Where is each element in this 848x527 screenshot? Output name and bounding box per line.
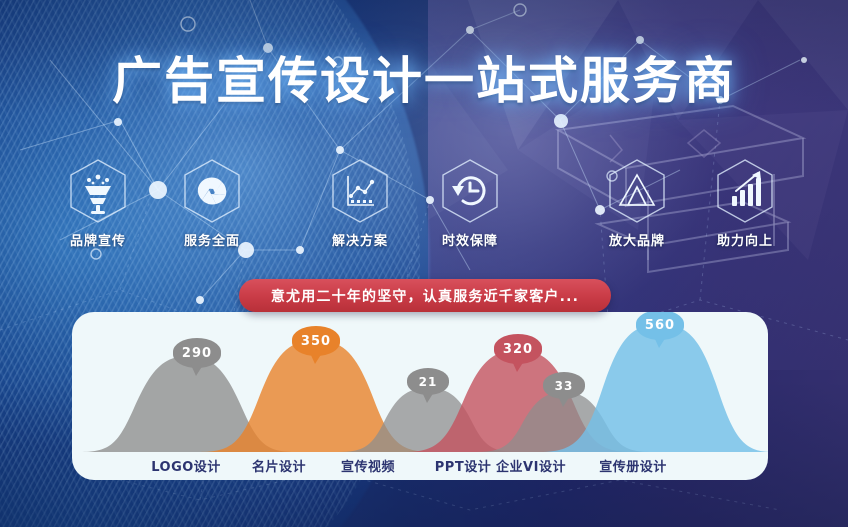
value-bubble-mingpian: 350	[292, 326, 340, 356]
value-bubble-logo: 290	[173, 338, 221, 368]
feature-item-boost-upward[interactable]: 助力向上	[697, 158, 793, 249]
axis-label-ppt: PPT设计	[435, 456, 491, 475]
feature-label: 服务全面	[164, 230, 260, 249]
axis-label-brochure: 宣传册设计	[599, 456, 667, 475]
triangle-icon	[606, 158, 668, 224]
value-bubble-ppt: 320	[494, 334, 542, 364]
feature-row: 品牌宣传 服务全面	[0, 158, 848, 254]
promo-banner: 广告宣传设计一站式服务商 品牌宣传	[0, 0, 848, 527]
feature-label: 时效保障	[422, 230, 518, 249]
chart-axis-labels: LOGO设计 名片设计 宣传视频 PPT设计 企业VI设计 宣传册设计	[72, 450, 768, 480]
value-bubble-video: 21	[407, 368, 449, 395]
value-bubble-brochure: 560	[636, 312, 684, 340]
feature-label: 解决方案	[312, 230, 408, 249]
tagline-text: 意尤用二十年的坚守，认真服务近千家客户...	[271, 286, 579, 306]
axis-label-mingpian: 名片设计	[252, 456, 306, 475]
feature-item-brand-promotion[interactable]: 品牌宣传	[50, 158, 146, 249]
megaphone-icon	[67, 158, 129, 224]
axis-label-logo: LOGO设计	[151, 456, 221, 475]
aperture-icon	[181, 158, 243, 224]
tagline-pill: 意尤用二十年的坚守，认真服务近千家客户...	[239, 279, 611, 312]
value-bubble-vi: 33	[543, 372, 585, 399]
feature-item-solutions[interactable]: 解决方案	[312, 158, 408, 249]
chart-card: 290 350 21 320 33 560 LOGO设计 名片设计 宣传视频 P…	[72, 312, 768, 480]
feature-label: 放大品牌	[589, 230, 685, 249]
axis-label-vi: 企业VI设计	[496, 456, 566, 475]
feature-item-amplify-brand[interactable]: 放大品牌	[589, 158, 685, 249]
chart-network-icon	[329, 158, 391, 224]
feature-item-timeliness[interactable]: 时效保障	[422, 158, 518, 249]
feature-item-full-service[interactable]: 服务全面	[164, 158, 260, 249]
feature-label: 品牌宣传	[50, 230, 146, 249]
clock-rewind-icon	[439, 158, 501, 224]
page-title: 广告宣传设计一站式服务商	[0, 56, 848, 106]
feature-label: 助力向上	[697, 230, 793, 249]
bar-growth-icon	[714, 158, 776, 224]
axis-label-video: 宣传视频	[341, 456, 395, 475]
